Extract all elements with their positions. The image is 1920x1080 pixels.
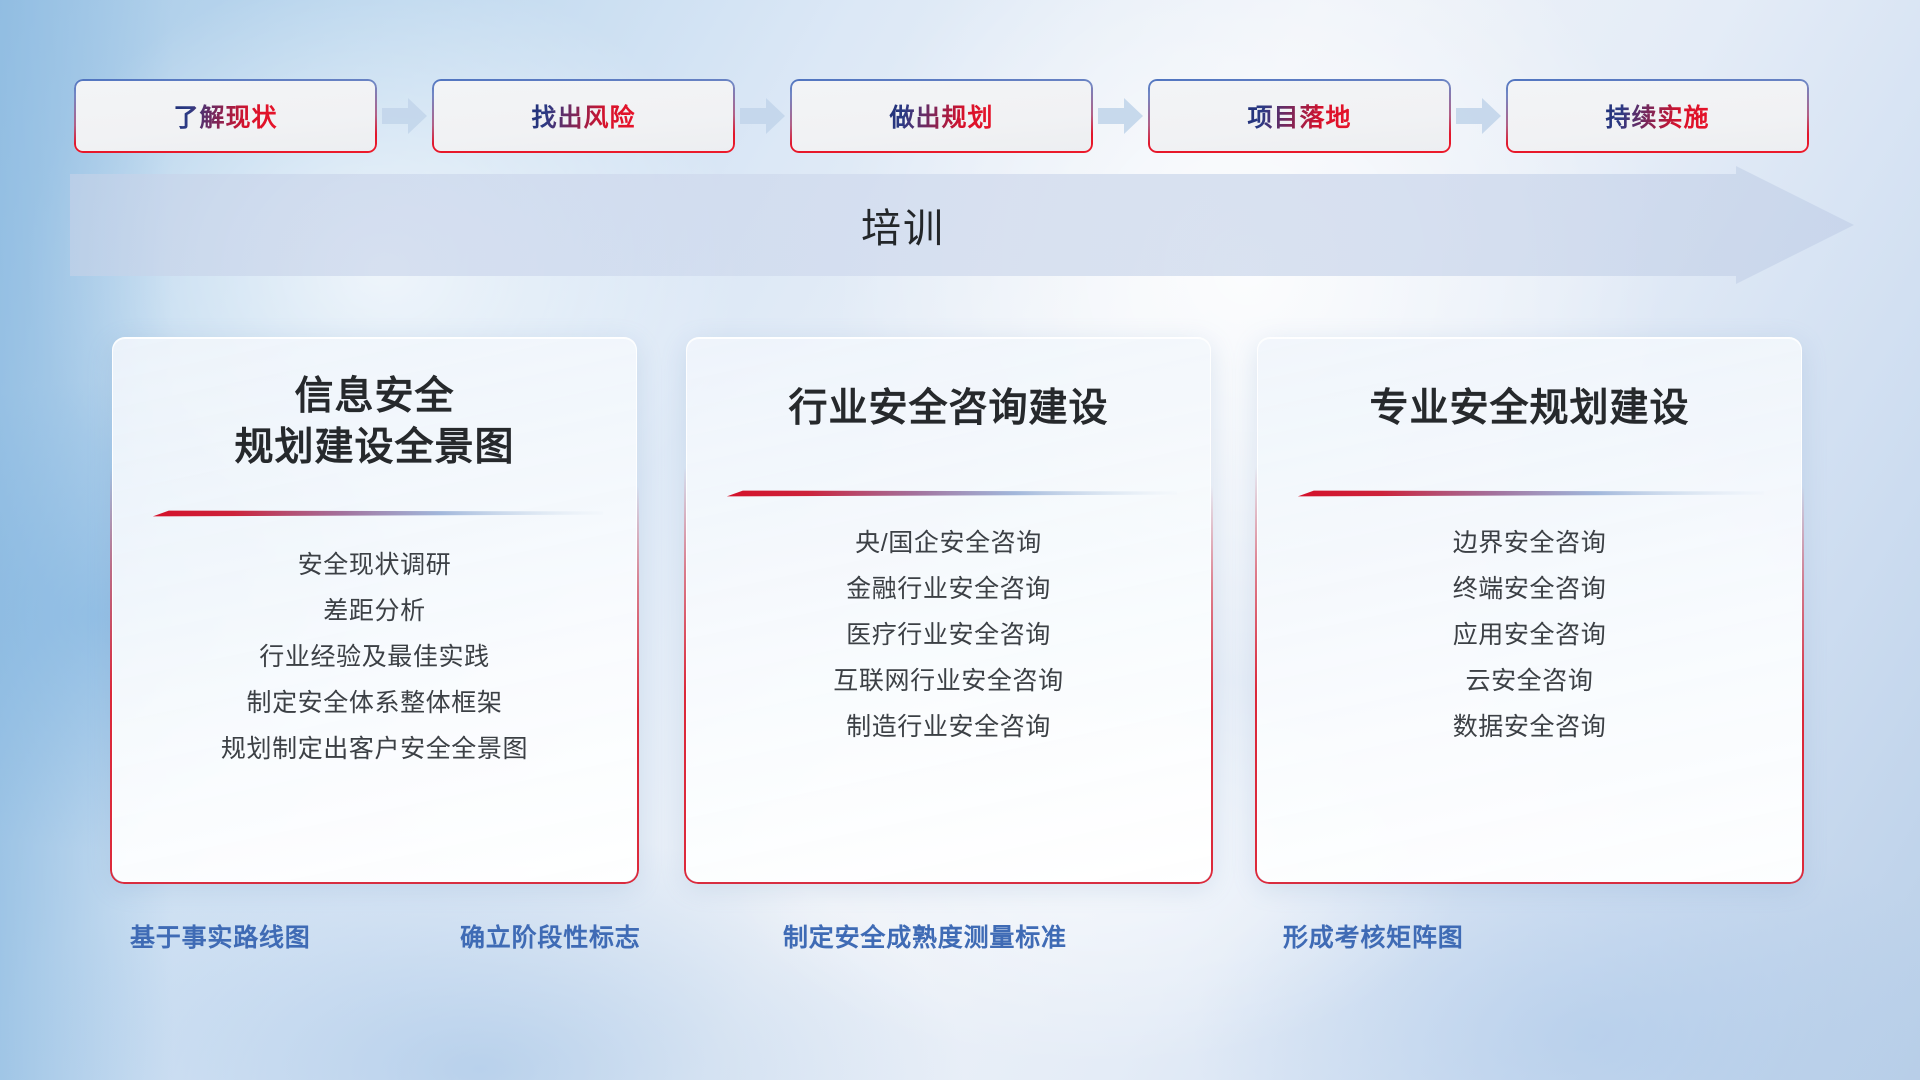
list-item: 云安全咨询 (1465, 659, 1593, 705)
process-step-3[interactable]: 做出规划 (790, 79, 1093, 153)
training-banner: 培训 (70, 166, 1854, 284)
footer-label: 基于事实路线图 (130, 918, 311, 954)
list-item: 应用安全咨询 (1453, 613, 1607, 659)
arrow-right-icon (380, 95, 429, 137)
footer-label: 形成考核矩阵图 (1283, 918, 1464, 954)
list-item: 终端安全咨询 (1453, 567, 1607, 613)
card-title: 专业安全规划建设 (1369, 384, 1689, 435)
process-step-row: 了解现状 找出风险 做出规划 项目落地 (74, 79, 1847, 153)
list-item: 边界安全咨询 (1453, 521, 1607, 567)
list-item: 央/国企安全咨询 (855, 521, 1042, 567)
process-step-label: 了解现状 (173, 98, 277, 134)
footer-label: 确立阶段性标志 (460, 918, 641, 954)
training-banner-label: 培训 (70, 166, 1736, 284)
card-divider (1258, 485, 1801, 501)
footer-label-row: 基于事实路线图 确立阶段性标志 制定安全成熟度测量标准 形成考核矩阵图 (0, 918, 1920, 968)
list-item: 制定安全体系整体框架 (246, 681, 502, 727)
list-item: 制造行业安全咨询 (846, 705, 1051, 751)
arrow-right-icon (1454, 95, 1503, 137)
arrow-right-icon (1096, 95, 1145, 137)
list-item: 规划制定出客户安全全景图 (221, 727, 528, 773)
service-card-professional-security-planning[interactable]: 专业安全规划建设 (1257, 337, 1802, 882)
card-panel: 信息安全 规划建设全景图 (112, 337, 637, 882)
list-item: 金融行业安全咨询 (846, 567, 1051, 613)
card-row: 信息安全 规划建设全景图 (112, 337, 1812, 882)
footer-label: 制定安全成熟度测量标准 (783, 918, 1067, 954)
card-panel: 专业安全规划建设 (1257, 337, 1802, 882)
list-item: 互联网行业安全咨询 (833, 659, 1063, 705)
list-item: 差距分析 (323, 589, 425, 635)
list-item: 医疗行业安全咨询 (846, 613, 1051, 659)
list-item: 数据安全咨询 (1453, 705, 1607, 751)
list-item: 行业经验及最佳实践 (259, 635, 489, 681)
process-step-4[interactable]: 项目落地 (1148, 79, 1451, 153)
card-divider (687, 485, 1210, 501)
process-step-label: 持续实施 (1605, 98, 1709, 134)
arrow-right-icon (738, 95, 787, 137)
card-item-list: 边界安全咨询 终端安全咨询 应用安全咨询 云安全咨询 数据安全咨询 (1258, 521, 1801, 751)
process-step-5[interactable]: 持续实施 (1506, 79, 1809, 153)
card-panel: 行业安全咨询建设 (686, 337, 1211, 882)
list-item: 安全现状调研 (298, 543, 452, 589)
process-step-label: 找出风险 (531, 98, 635, 134)
process-step-label: 项目落地 (1247, 98, 1351, 134)
service-card-industry-security-consulting[interactable]: 行业安全咨询建设 (686, 337, 1211, 882)
card-title: 信息安全 规划建设全景图 (234, 372, 514, 473)
process-step-2[interactable]: 找出风险 (432, 79, 735, 153)
card-item-list: 央/国企安全咨询 金融行业安全咨询 医疗行业安全咨询 互联网行业安全咨询 制造行… (687, 521, 1210, 751)
service-card-information-security-blueprint[interactable]: 信息安全 规划建设全景图 (112, 337, 637, 882)
process-step-label: 做出规划 (889, 98, 993, 134)
card-title: 行业安全咨询建设 (788, 384, 1108, 435)
card-item-list: 安全现状调研 差距分析 行业经验及最佳实践 制定安全体系整体框架 规划制定出客户… (113, 543, 636, 773)
slide-content: 了解现状 找出风险 做出规划 项目落地 (0, 0, 1920, 1080)
process-step-1[interactable]: 了解现状 (74, 79, 377, 153)
card-divider (113, 505, 636, 521)
